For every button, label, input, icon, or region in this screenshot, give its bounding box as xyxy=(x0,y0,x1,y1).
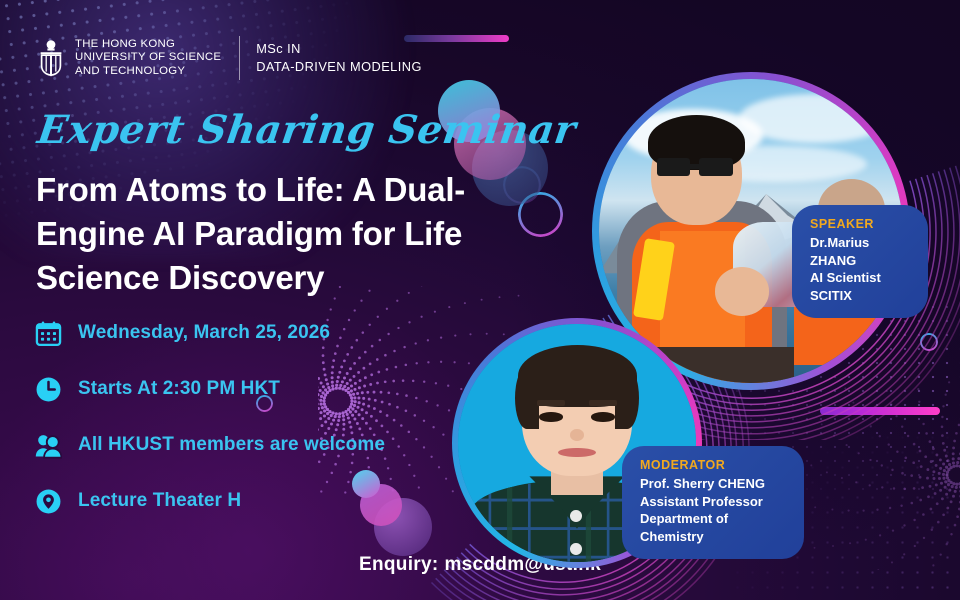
calendar-icon xyxy=(34,319,62,347)
moderator-role-label: MODERATOR xyxy=(640,458,788,472)
speaker-role-label: SPEAKER xyxy=(810,217,912,231)
eyebrow-text: Expert Sharing Seminar xyxy=(35,108,579,152)
outline-circle-medium xyxy=(518,192,563,237)
detail-row-audience: All HKUST members are welcome xyxy=(34,424,504,466)
detail-row-date: Wednesday, March 25, 2026 xyxy=(34,312,504,354)
program-name: MSc IN DATA-DRIVEN MODELING xyxy=(256,40,422,76)
speaker-info-card: SPEAKER Dr.Marius ZHANG AI Scientist SCI… xyxy=(792,205,928,318)
detail-row-venue: Lecture Theater H xyxy=(34,480,504,522)
gradient-bar-right xyxy=(820,407,940,415)
speaker-name: Dr.Marius ZHANG xyxy=(810,234,912,269)
detail-row-time: Starts At 2:30 PM HKT xyxy=(34,368,504,410)
outline-circle-tiny-right xyxy=(920,333,938,351)
hkust-logo-icon xyxy=(36,39,66,77)
detail-text-audience: All HKUST members are welcome xyxy=(78,434,385,456)
location-pin-icon xyxy=(34,487,62,515)
dot-swirl-decoration-right xyxy=(792,380,960,570)
detail-text-time: Starts At 2:30 PM HKT xyxy=(78,378,280,400)
outline-circle-small-upper xyxy=(503,166,541,204)
people-icon xyxy=(34,431,62,459)
moderator-position: Assistant Professor xyxy=(640,493,788,511)
event-details-list: Wednesday, March 25, 2026 Starts At 2:30… xyxy=(34,312,504,536)
moderator-name: Prof. Sherry CHENG xyxy=(640,475,788,493)
speaker-position: AI Scientist xyxy=(810,269,912,287)
seminar-poster: THE HONG KONG UNIVERSITY OF SCIENCE AND … xyxy=(0,0,960,600)
detail-text-date: Wednesday, March 25, 2026 xyxy=(78,322,330,344)
clock-icon xyxy=(34,375,62,403)
header-divider xyxy=(239,36,240,80)
enquiry-label: Enquiry: xyxy=(359,554,438,575)
page-title: From Atoms to Life: A Dual-Engine AI Par… xyxy=(36,168,506,300)
detail-text-venue: Lecture Theater H xyxy=(78,490,241,512)
moderator-info-card: MODERATOR Prof. Sherry CHENG Assistant P… xyxy=(622,446,804,559)
poster-header: THE HONG KONG UNIVERSITY OF SCIENCE AND … xyxy=(36,36,422,80)
moderator-organization: Department of Chemistry xyxy=(640,510,788,545)
university-name: THE HONG KONG UNIVERSITY OF SCIENCE AND … xyxy=(75,38,221,78)
speaker-organization: SCITIX xyxy=(810,287,912,305)
